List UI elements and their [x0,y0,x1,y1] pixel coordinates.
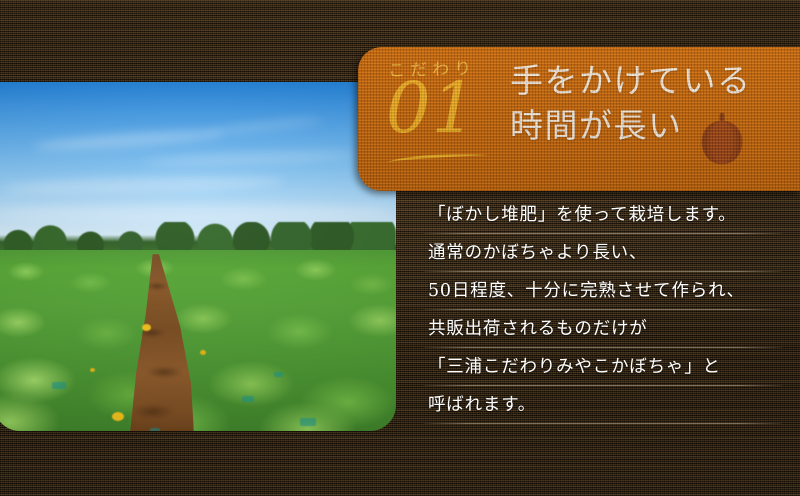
field-netting [242,396,254,402]
field-netting [150,428,160,431]
field-netting [52,382,66,389]
headline-badge-inner: こだわり 01 手をかけている 時間が長い [358,47,800,191]
cloud-wisp [144,150,354,166]
pumpkin-icon [691,109,753,171]
badge-underline-swoosh [386,153,490,163]
cloud-wisp [0,204,394,222]
badge-number: 01 [386,73,477,143]
pumpkin-blossom [90,368,95,372]
pumpkin-blossom [142,324,151,331]
body-text-block: 「ぼかし堆肥」を使って栽培します。 通常のかぼちゃより長い、 50日程度、十分に… [428,198,776,426]
body-text-line: 50日程度、十分に完熟させて作られ、 [428,274,776,312]
cloud-wisp [4,174,284,195]
body-text-line: 「ぼかし堆肥」を使って栽培します。 [428,198,776,236]
pumpkin-blossom [112,412,124,421]
cloud-wisp [204,116,324,136]
headline-badge: こだわり 01 手をかけている 時間が長い [358,47,800,191]
badge-title-line-1: 手をかけている [510,59,752,104]
body-text-line: 「三浦こだわりみやこかぼちゃ」と [428,350,776,388]
body-text-line: 呼ばれます。 [428,388,776,426]
field-netting [274,372,283,377]
body-text-line: 通常のかぼちゃより長い、 [428,236,776,274]
body-text-line: 共販出荷されるものだけが [428,312,776,350]
pumpkin-field-photo [0,82,396,431]
page-stage: こだわり 01 手をかけている 時間が長い 「ぼかし堆肥」を使って栽培します。 … [0,0,800,496]
photo-sky [0,82,396,245]
field-netting [300,418,316,426]
cloud-wisp [34,127,224,152]
pumpkin-blossom [200,350,206,355]
